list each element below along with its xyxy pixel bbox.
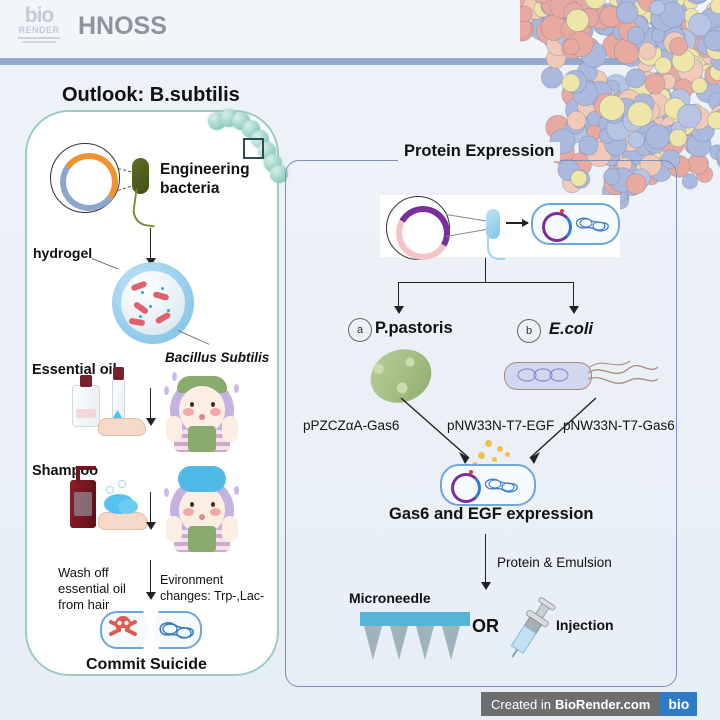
dna-coil-icon (573, 213, 611, 235)
logo-render-text: RENDER (18, 25, 59, 35)
essential-oil-label: Essential oil (32, 362, 117, 378)
biorender-watermark-logo: bio RENDER (10, 6, 68, 52)
or-label: OR (472, 616, 499, 637)
microneedle-patch-base (360, 612, 470, 626)
person-washing-hair-illustration (164, 468, 240, 550)
brand-text: BioRender.com (555, 697, 650, 712)
shampoo-bottle-icon (70, 480, 96, 528)
microneedle-tip (390, 626, 408, 660)
foam-icon-2 (118, 499, 138, 514)
arrow-shaft (150, 560, 151, 596)
arrow-head (146, 418, 156, 426)
commit-suicide-label: Commit Suicide (86, 656, 207, 674)
arrow-head (569, 306, 579, 314)
dna-coil-icon (155, 616, 197, 644)
syringe-icon (500, 592, 560, 664)
hydrogel-interior (121, 271, 185, 335)
ecoli-flagella-icon (588, 355, 658, 395)
hand-icon-2 (98, 512, 148, 530)
arrow-head (146, 522, 156, 530)
arrow-shaft (150, 492, 151, 526)
branch-bar (398, 282, 574, 283)
plasmid-diagram-bsubtilis (50, 143, 120, 213)
ppastoris-label: P.pastoris (375, 319, 453, 338)
person-applying-oil-illustration (164, 368, 240, 450)
microneedle-label: Microneedle (349, 590, 431, 606)
arrow-shaft (485, 534, 486, 586)
host-bacterium-icon (486, 209, 500, 239)
arrow-shaft (150, 228, 151, 262)
plasmid-label-ppzcza-gas6: pPZCZαA-Gas6 (303, 418, 399, 433)
lysed-cell-right-half (153, 611, 202, 649)
bubble-icon (106, 486, 114, 494)
expressing-cell-icon (440, 464, 536, 506)
plasmid-marker-dot (469, 470, 473, 474)
ecoli-dna-icon (515, 366, 575, 384)
created-in-text: Created in (491, 697, 551, 712)
branch-badge-b: b (517, 319, 541, 343)
arrow-head (394, 306, 404, 314)
hand-icon (98, 418, 146, 436)
square-marker-icon (243, 138, 264, 159)
bacteria-chain-decoration-2 (0, 548, 56, 608)
arrow-head (146, 592, 156, 600)
dna-coil-icon (482, 474, 520, 496)
protein-expression-title: Protein Expression (398, 142, 560, 161)
page-title: HNOSS (78, 12, 167, 41)
essential-oil-bottle-icon (72, 385, 100, 427)
microneedle-tip (364, 626, 382, 660)
transformation-arrow (506, 222, 528, 224)
microneedle-tip (442, 626, 460, 660)
wash-off-label: Wash off essential oil from hair (58, 565, 136, 613)
logo-bio-text: bio (25, 6, 54, 25)
transformed-cell-icon (531, 203, 620, 245)
arrow-head (481, 582, 491, 590)
internal-plasmid-icon (451, 473, 481, 503)
ecoli-label: E.coli (549, 320, 593, 339)
host-bacterium-flagellum (487, 236, 505, 260)
branch-stem (485, 258, 486, 282)
microneedle-tip (416, 626, 434, 660)
section-title: Outlook: B.subtilis (62, 84, 240, 107)
biorender-attribution: Created in BioRender.com bio (481, 692, 697, 716)
bacillus-subtilis-label: Bacillus Subtilis (165, 350, 269, 365)
bubble-icon (118, 480, 126, 488)
engineering-bacteria-label: Engineering bacteria (160, 160, 260, 198)
plasmid-marker-dot (560, 209, 564, 213)
environment-change-label: Evironment changes: Trp-,Lac- (160, 572, 268, 604)
logo-rule-1 (18, 37, 60, 39)
diagram-canvas: bio RENDER HNOSS Outlook: B.subtilis (0, 0, 720, 720)
gas6-egf-expression-label: Gas6 and EGF expression (389, 505, 594, 524)
protein-emulsion-label: Protein & Emulsion (497, 555, 612, 570)
attribution-text: Created in BioRender.com (481, 692, 660, 716)
plasmid-diagram-expression (386, 196, 450, 260)
branch-badge-a: a (348, 318, 372, 342)
internal-plasmid-icon (542, 212, 572, 242)
skull-crossbones-icon (108, 614, 138, 642)
biorender-badge: bio (660, 692, 697, 716)
ecoli-bacterium-icon (504, 362, 592, 390)
logo-rule-2 (22, 41, 56, 43)
arrow-shaft (150, 388, 151, 422)
injection-label: Injection (556, 617, 614, 633)
hydrogel-label: hydrogel (33, 245, 92, 261)
lysed-cell-icon (100, 611, 200, 645)
